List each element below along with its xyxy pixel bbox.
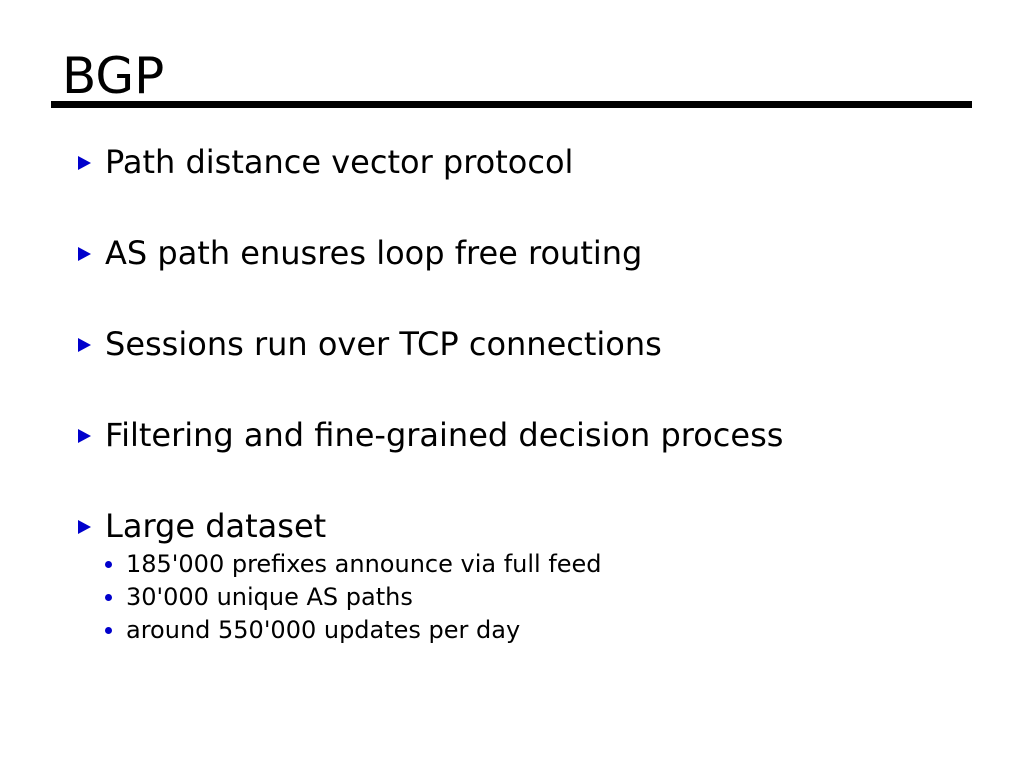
bullet-label: AS path enusres loop free routing [105,234,642,272]
presentation-slide: BGP Path distance vector protocol AS pat… [0,0,1024,768]
triangle-right-icon [78,338,91,352]
list-item: AS path enusres loop free routing [0,231,1024,276]
list-item: 185'000 prefixes announce via full feed [105,548,1024,581]
triangle-right-icon [78,156,91,170]
bullet-label: Large dataset [105,507,326,545]
bullet-label: Sessions run over TCP connections [105,325,662,363]
bullet-list: Path distance vector protocol AS path en… [0,140,1024,549]
sub-bullet-label: 30'000 unique AS paths [126,583,413,611]
slide-title-block: BGP [51,48,972,104]
dot-icon [105,627,112,634]
bullet-label: Path distance vector protocol [105,143,573,181]
sub-bullet-wrapper: 185'000 prefixes announce via full feed … [0,551,1024,650]
list-item: Path distance vector protocol [0,140,1024,185]
list-item: around 550'000 updates per day [105,614,1024,647]
sub-bullet-label: around 550'000 updates per day [126,616,520,644]
triangle-right-icon [78,429,91,443]
sub-bullet-label: 185'000 prefixes announce via full feed [126,550,602,578]
list-item: Sessions run over TCP connections [0,322,1024,367]
triangle-right-icon [78,520,91,534]
bullet-label: Filtering and fine-grained decision proc… [105,416,783,454]
list-item: Filtering and fine-grained decision proc… [0,413,1024,458]
list-item: 30'000 unique AS paths [105,581,1024,614]
slide-body: Path distance vector protocol AS path en… [0,140,1024,650]
title-divider [51,101,972,108]
dot-icon [105,561,112,568]
page-title: BGP [51,48,972,104]
triangle-right-icon [78,247,91,261]
list-item: Large dataset [0,504,1024,549]
dot-icon [105,594,112,601]
sub-bullet-list: 185'000 prefixes announce via full feed … [105,548,1024,647]
